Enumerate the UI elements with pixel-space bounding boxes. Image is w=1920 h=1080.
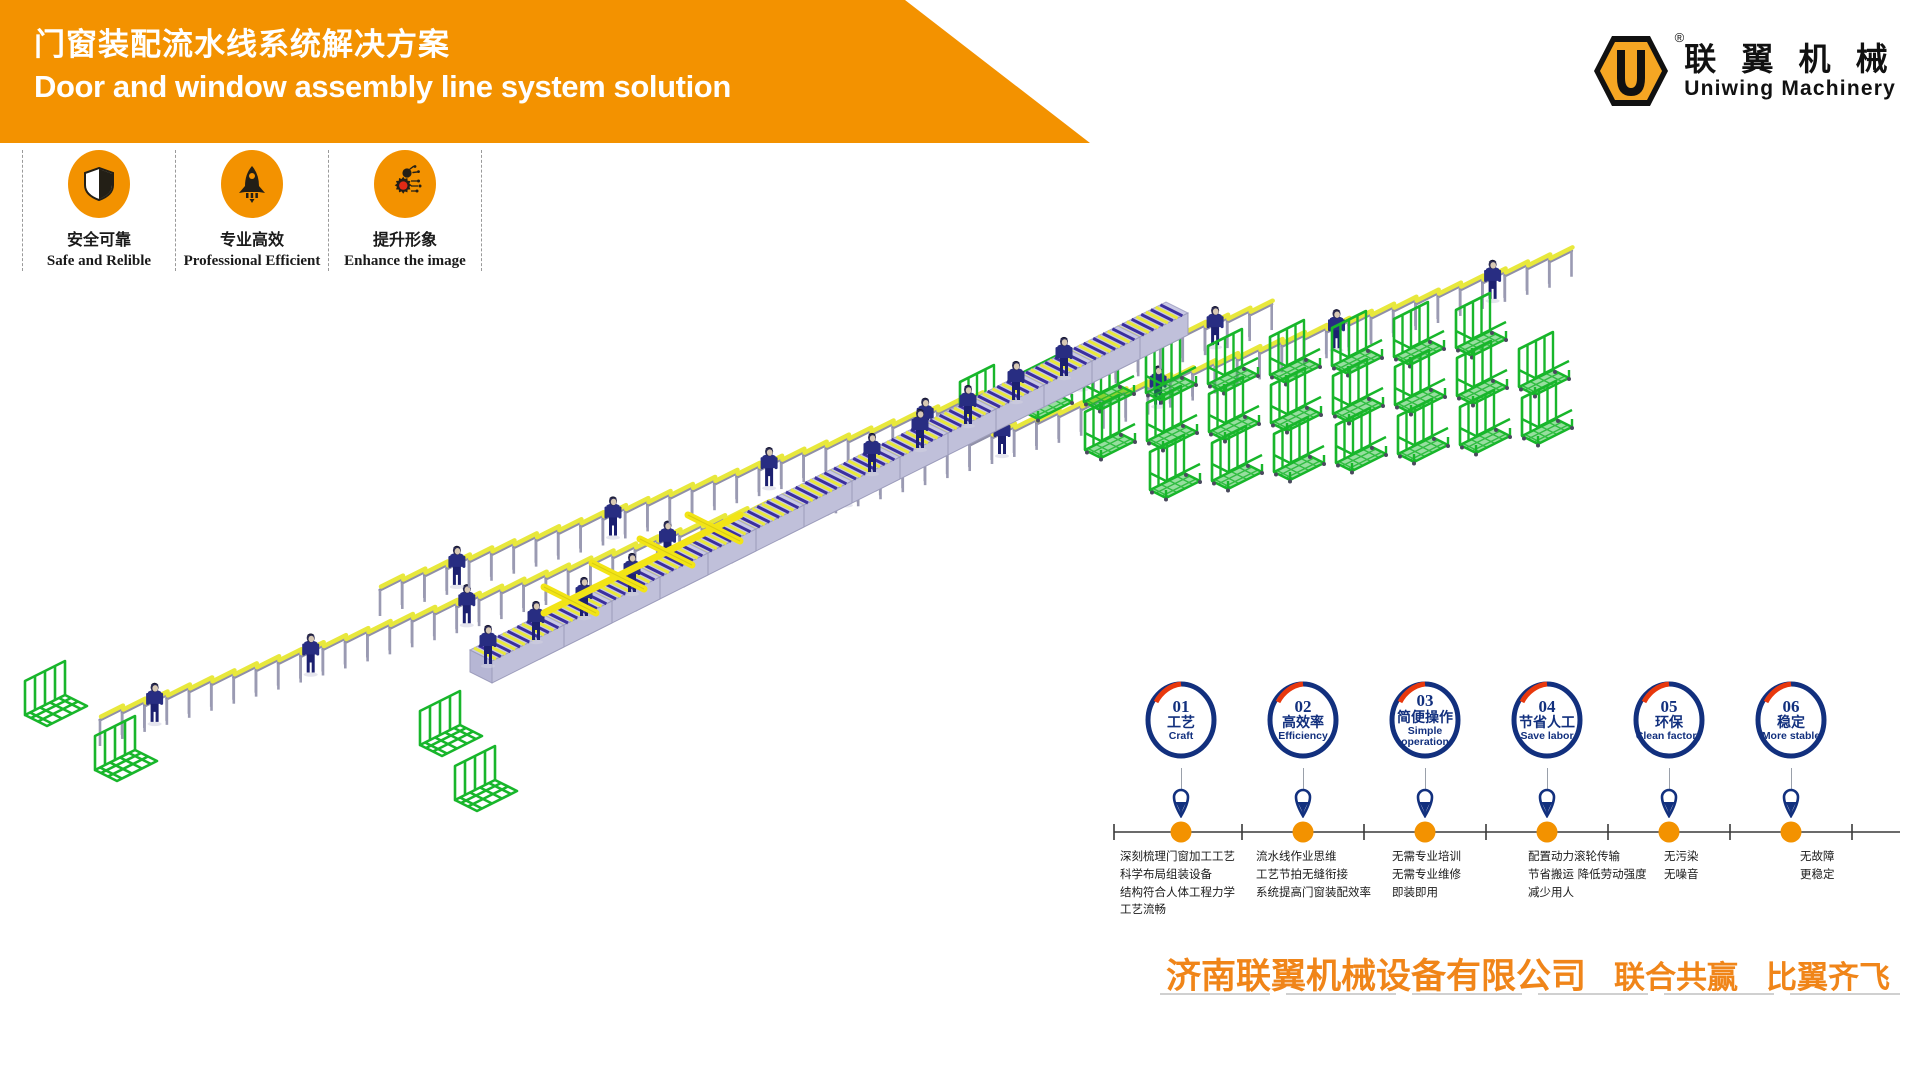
ring-title-cn: 环保 xyxy=(1636,716,1703,731)
feature-label-en: Enhance the image xyxy=(344,251,466,271)
feature-badge-image: 提升形象 Enhance the image xyxy=(329,150,482,271)
ring-icon: 01 工艺 Craft xyxy=(1144,680,1218,760)
feature-label-cn: 安全可靠 xyxy=(67,229,131,251)
page-title-cn: 门窗装配流水线系统解决方案 xyxy=(34,26,731,65)
timeline-desc-03: 无需专业培训 无需专业维修 即装即用 xyxy=(1392,848,1528,919)
ring-number: 06 xyxy=(1762,698,1820,716)
page-title-en: Door and window assembly line system sol… xyxy=(34,67,731,107)
desc-line: 无需专业培训 xyxy=(1392,848,1514,866)
header-title-block: 门窗装配流水线系统解决方案 Door and window assembly l… xyxy=(34,26,731,107)
ring-number: 04 xyxy=(1519,698,1575,716)
timeline-stem xyxy=(1669,768,1670,790)
feature-badge-efficient: 专业高效 Professional Efficient xyxy=(176,150,329,271)
feature-label-en: Safe and Relible xyxy=(47,251,151,271)
desc-line: 无噪音 xyxy=(1664,866,1786,884)
ring-title-en: Save labor xyxy=(1519,731,1575,742)
desc-line: 无需专业维修 xyxy=(1392,866,1514,884)
feature-badge-safe: 安全可靠 Safe and Relible xyxy=(22,150,176,271)
shield-icon xyxy=(68,150,130,218)
ring-number: 02 xyxy=(1278,698,1328,716)
timeline-description-row: 深刻梳理门窗加工工艺 科学布局组装设备 结构符合人体工程力学 工艺流畅 流水线作… xyxy=(1120,848,1920,919)
timeline-desc-06: 无故障 更稳定 xyxy=(1800,848,1920,919)
timeline-node-02[interactable]: 02 高效率 Efficiency xyxy=(1242,680,1364,770)
desc-line: 工艺节拍无缝衔接 xyxy=(1256,866,1378,884)
ring-number: 03 xyxy=(1388,692,1462,710)
timeline-desc-01: 深刻梳理门窗加工工艺 科学布局组装设备 结构符合人体工程力学 工艺流畅 xyxy=(1120,848,1256,919)
ring-title-cn: 简便操作 xyxy=(1388,711,1462,726)
feature-label-cn: 专业高效 xyxy=(220,229,284,251)
timeline-stem xyxy=(1303,768,1304,790)
ring-title-en: Simple operation xyxy=(1388,726,1462,748)
slogan-two: 比翼齐飞 xyxy=(1766,952,1890,997)
gear-network-icon xyxy=(374,150,436,218)
ring-icon: 03 简便操作 Simple operation xyxy=(1388,680,1462,760)
timeline-node-01[interactable]: 01 工艺 Craft xyxy=(1120,680,1242,770)
map-pin-icon xyxy=(1293,788,1313,818)
logo-name-en: Uniwing Machinery xyxy=(1684,78,1896,99)
timeline-stem xyxy=(1791,768,1792,790)
timeline-stem-row xyxy=(1120,768,1920,790)
desc-line: 深刻梳理门窗加工工艺 xyxy=(1120,848,1242,866)
logo-name-cn: 联 翼 机 械 xyxy=(1684,43,1896,75)
feature-label-en: Professional Efficient xyxy=(184,251,321,271)
desc-line: 工艺流畅 xyxy=(1120,901,1242,919)
timeline-node-04[interactable]: 04 节省人工 Save labor xyxy=(1486,680,1608,770)
ring-title-cn: 节省人工 xyxy=(1519,716,1575,731)
feature-label-cn: 提升形象 xyxy=(373,229,437,251)
map-pin-icon xyxy=(1415,788,1435,818)
desc-line: 无污染 xyxy=(1664,848,1786,866)
timeline-desc-04: 配置动力滚轮传输 节省搬运 降低劳动强度 减少用人 xyxy=(1528,848,1664,919)
timeline-stem xyxy=(1425,768,1426,790)
timeline-circle-row: 01 工艺 Craft 02 高效率 Efficiency xyxy=(1120,680,1920,770)
desc-line: 系统提高门窗装配效率 xyxy=(1256,884,1378,902)
ring-title-cn: 高效率 xyxy=(1278,716,1328,731)
ring-title-en: Efficiency xyxy=(1278,731,1328,742)
desc-line: 流水线作业思维 xyxy=(1256,848,1378,866)
desc-line: 更稳定 xyxy=(1800,866,1920,884)
ring-title-en: More stable xyxy=(1762,731,1820,742)
timeline-node-03[interactable]: 03 简便操作 Simple operation xyxy=(1364,680,1486,770)
logo-text-block: 联 翼 机 械 Uniwing Machinery xyxy=(1684,43,1896,99)
ring-title-en: Clean factory xyxy=(1636,731,1703,742)
rocket-icon xyxy=(221,150,283,218)
ring-number: 05 xyxy=(1636,698,1703,716)
desc-line: 结构符合人体工程力学 xyxy=(1120,884,1242,902)
desc-line: 即装即用 xyxy=(1392,884,1514,902)
slogan-one: 联合共赢 xyxy=(1614,952,1738,997)
map-pin-icon xyxy=(1171,788,1191,818)
company-tagline: 济南联翼机械设备有限公司 联合共赢 比翼齐飞 xyxy=(1128,948,1920,999)
timeline-desc-05: 无污染 无噪音 xyxy=(1664,848,1800,919)
timeline-pin-row xyxy=(1120,788,1920,820)
ring-icon: 06 稳定 More stable xyxy=(1754,680,1828,760)
benefits-timeline: 01 工艺 Craft 02 高效率 Efficiency xyxy=(1120,680,1920,980)
ring-title-cn: 工艺 xyxy=(1167,716,1195,731)
timeline-axis xyxy=(1110,820,1910,844)
powered-roller-table-line xyxy=(470,302,1188,683)
ring-title-cn: 稳定 xyxy=(1762,716,1820,731)
feature-badge-list: 安全可靠 Safe and Relible 专业高效 Professional … xyxy=(22,150,482,271)
desc-line: 科学布局组装设备 xyxy=(1120,866,1242,884)
timeline-node-06[interactable]: 06 稳定 More stable xyxy=(1730,680,1852,770)
registered-trademark-icon: ® xyxy=(1675,30,1685,45)
ring-number: 01 xyxy=(1167,698,1195,716)
map-pin-icon xyxy=(1659,788,1679,818)
uniwing-hexagon-u-logo-icon: ® xyxy=(1592,32,1670,110)
map-pin-icon xyxy=(1781,788,1801,818)
desc-line: 配置动力滚轮传输 xyxy=(1528,848,1650,866)
ring-icon: 04 节省人工 Save labor xyxy=(1510,680,1584,760)
desc-line: 无故障 xyxy=(1800,848,1920,866)
ring-title-en: Craft xyxy=(1167,731,1195,742)
timeline-stem xyxy=(1547,768,1548,790)
timeline-node-05[interactable]: 05 环保 Clean factory xyxy=(1608,680,1730,770)
timeline-stem xyxy=(1181,768,1182,790)
desc-line: 减少用人 xyxy=(1528,884,1650,902)
ring-icon: 05 环保 Clean factory xyxy=(1632,680,1706,760)
ring-icon: 02 高效率 Efficiency xyxy=(1266,680,1340,760)
brand-logo: ® 联 翼 机 械 Uniwing Machinery xyxy=(1592,32,1896,110)
map-pin-icon xyxy=(1537,788,1557,818)
timeline-desc-02: 流水线作业思维 工艺节拍无缝衔接 系统提高门窗装配效率 xyxy=(1256,848,1392,919)
desc-line: 节省搬运 降低劳动强度 xyxy=(1528,866,1650,884)
company-name: 济南联翼机械设备有限公司 xyxy=(1166,948,1586,999)
